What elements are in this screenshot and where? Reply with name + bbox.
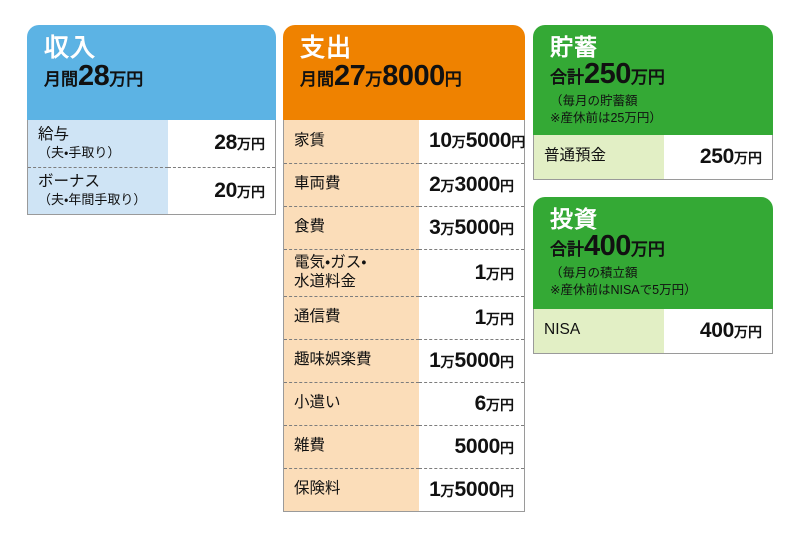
expense-summary: 月間27万8000円 — [300, 61, 525, 93]
table-row: NISA 400万円 — [534, 309, 773, 353]
expense-row-label: 車両費 — [284, 163, 420, 206]
expense-row-value: 3万5000円 — [419, 206, 525, 249]
income-summary-amount: 28 — [78, 60, 109, 92]
table-row: ボーナス （夫・年間手取り） 20万円 — [28, 167, 276, 214]
income-table: 給与 （夫・手取り） 28万円 ボーナス （夫・年間手取り） 20万円 — [27, 120, 276, 215]
savings-title: 貯蓄 — [550, 35, 773, 59]
income-summary-man: 万 — [109, 70, 126, 89]
expense-row-label: 食費 — [284, 206, 420, 249]
expense-row-value: 1万5000円 — [419, 339, 525, 382]
expense-row-value: 10万5000円 — [419, 120, 525, 163]
budget-infographic: 収入 月間28万円 給与 （夫・手取り） 28万円 ボーナス （夫・年間手取り）… — [0, 0, 800, 560]
expense-row-value: 6万円 — [419, 382, 525, 425]
income-row-value: 28万円 — [168, 120, 276, 167]
savings-table: 普通預金 250万円 — [533, 135, 773, 180]
expense-row-label: 雑費 — [284, 425, 420, 468]
income-row-label-sub: （夫・年間手取り） — [38, 192, 158, 208]
investment-summary: 合計400万円 — [550, 231, 773, 263]
table-row: 通信費 1万円 — [284, 296, 525, 339]
income-title: 収入 — [44, 35, 276, 61]
expense-row-label: 保険料 — [284, 468, 420, 511]
investment-row-label: NISA — [534, 309, 665, 353]
income-card-header: 収入 月間28万円 — [27, 25, 276, 120]
income-row-label: 給与 （夫・手取り） — [28, 120, 169, 167]
income-summary: 月間28万円 — [44, 61, 276, 93]
savings-row-value: 250万円 — [664, 135, 773, 179]
expense-row-label: 小遣い — [284, 382, 420, 425]
investment-row-value: 400万円 — [664, 309, 773, 353]
savings-row-label: 普通預金 — [534, 135, 665, 179]
expense-row-value: 1万円 — [419, 249, 525, 296]
expense-row-value: 1万5000円 — [419, 468, 525, 511]
income-row-label-main: ボーナス — [38, 173, 158, 192]
investment-title: 投資 — [550, 207, 773, 231]
expense-table: 家賃 10万5000円 車両費 2万3000円 食費 3万5000円 電気・ガス… — [283, 120, 525, 512]
income-summary-prefix: 月間 — [44, 70, 78, 89]
income-card: 収入 月間28万円 給与 （夫・手取り） 28万円 ボーナス （夫・年間手取り）… — [27, 25, 276, 215]
table-row: 電気・ガス・ 水道料金 1万円 — [284, 249, 525, 296]
table-row: 給与 （夫・手取り） 28万円 — [28, 120, 276, 167]
table-row: 雑費 5000円 — [284, 425, 525, 468]
investment-card-header: 投資 合計400万円 （毎月の積立額 ※産休前はNISAで5万円） — [533, 197, 773, 309]
income-row-label-main: 給与 — [38, 126, 158, 145]
investment-table: NISA 400万円 — [533, 309, 773, 354]
expense-row-value: 5000円 — [419, 425, 525, 468]
expense-row-label: 電気・ガス・ 水道料金 — [284, 249, 420, 296]
savings-note: （毎月の貯蓄額 ※産休前は25万円） — [550, 93, 773, 126]
table-row: 小遣い 6万円 — [284, 382, 525, 425]
savings-card-header: 貯蓄 合計250万円 （毎月の貯蓄額 ※産休前は25万円） — [533, 25, 773, 135]
income-summary-yen: 円 — [126, 70, 143, 89]
expense-row-label: 家賃 — [284, 120, 420, 163]
expense-title: 支出 — [300, 35, 525, 61]
investment-card: 投資 合計400万円 （毎月の積立額 ※産休前はNISAで5万円） NISA 4… — [533, 197, 773, 354]
expense-row-label: 趣味娯楽費 — [284, 339, 420, 382]
expense-card-header: 支出 月間27万8000円 — [283, 25, 525, 120]
table-row: 車両費 2万3000円 — [284, 163, 525, 206]
expense-row-value: 1万円 — [419, 296, 525, 339]
table-row: 食費 3万5000円 — [284, 206, 525, 249]
income-row-label: ボーナス （夫・年間手取り） — [28, 167, 169, 214]
investment-note: （毎月の積立額 ※産休前はNISAで5万円） — [550, 265, 773, 298]
table-row: 家賃 10万5000円 — [284, 120, 525, 163]
expense-row-value: 2万3000円 — [419, 163, 525, 206]
savings-card: 貯蓄 合計250万円 （毎月の貯蓄額 ※産休前は25万円） 普通預金 250万円 — [533, 25, 773, 180]
table-row: 保険料 1万5000円 — [284, 468, 525, 511]
savings-summary: 合計250万円 — [550, 59, 773, 91]
income-row-value: 20万円 — [168, 167, 276, 214]
expense-card: 支出 月間27万8000円 家賃 10万5000円 車両費 2万3000円 食費… — [283, 25, 525, 512]
income-row-label-sub: （夫・手取り） — [38, 145, 158, 161]
expense-row-label: 通信費 — [284, 296, 420, 339]
table-row: 普通預金 250万円 — [534, 135, 773, 179]
table-row: 趣味娯楽費 1万5000円 — [284, 339, 525, 382]
